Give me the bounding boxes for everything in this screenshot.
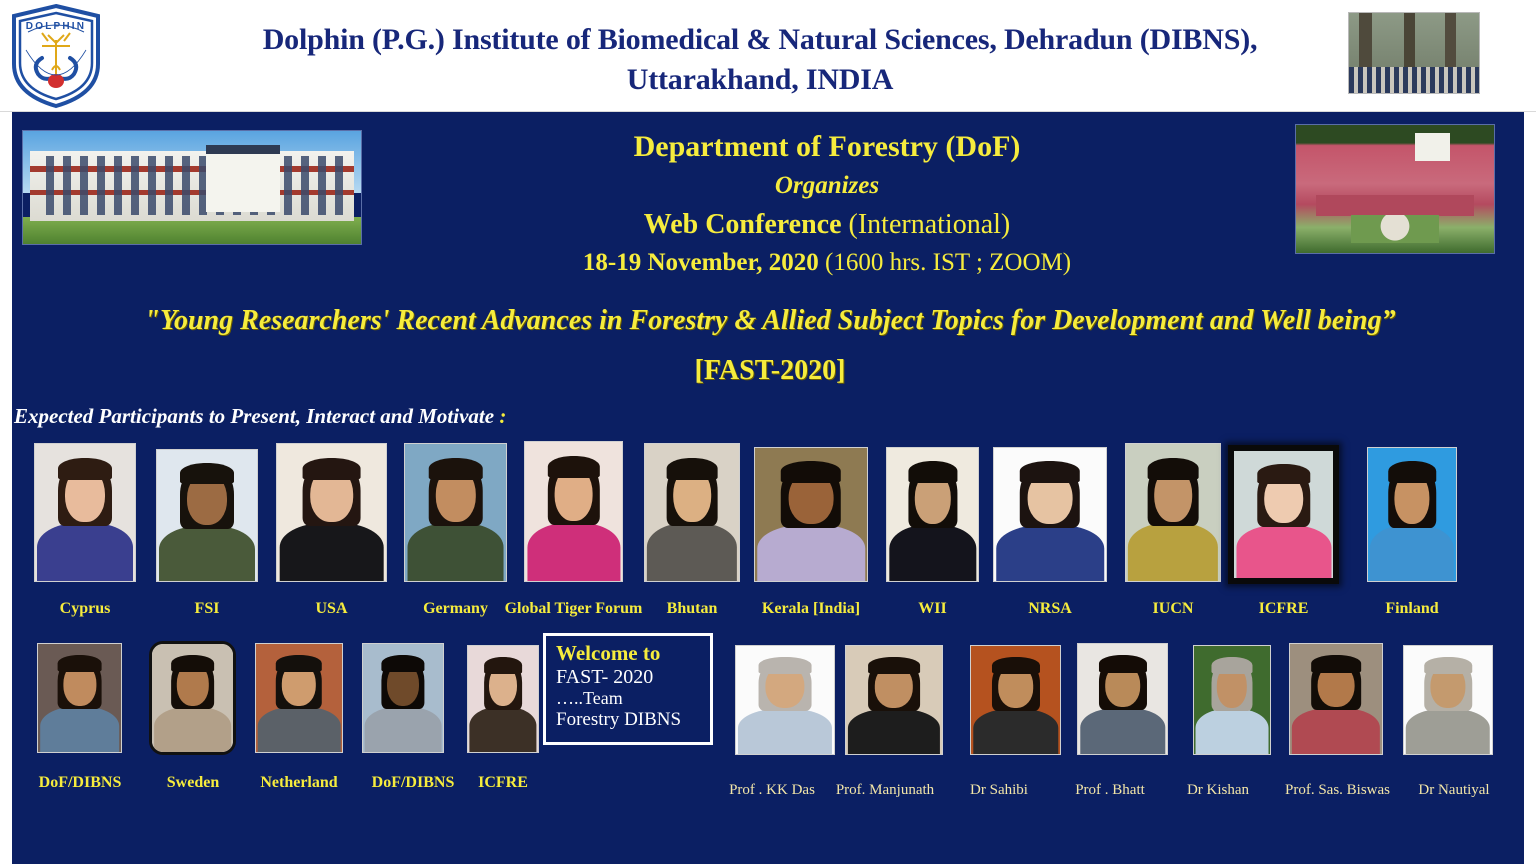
participant-caption: IUCN — [1125, 600, 1221, 618]
department-name: Department of Forestry (DoF) — [372, 126, 1282, 167]
conference-acronym: [FAST-2020] — [30, 355, 1510, 387]
participant-caption: Cyprus — [34, 600, 136, 618]
participant-photo — [1228, 445, 1339, 584]
participant-photo — [149, 641, 236, 755]
participant-photo — [362, 643, 444, 753]
expected-participants-colon: : — [499, 404, 506, 428]
group-photo-thumbnail — [1348, 12, 1480, 94]
poster-body: Department of Forestry (DoF) Organizes W… — [12, 112, 1524, 864]
participant-caption: USA — [276, 600, 387, 618]
participant-caption: Bhutan — [644, 600, 740, 618]
conference-type: Web Conference (International) — [372, 205, 1282, 246]
participant-photo — [404, 443, 507, 582]
participant-caption: DoF/DIBNS — [355, 774, 471, 792]
participant-photo — [644, 443, 740, 582]
participant-photo — [735, 645, 835, 755]
conference-date-rest: (1600 hrs. IST ; ZOOM) — [819, 249, 1071, 276]
participant-photo — [845, 645, 943, 755]
welcome-line-2: FAST- 2020 — [556, 666, 702, 689]
panellist-name: Prof . Bhatt — [1060, 782, 1160, 799]
dolphin-institute-logo: DOLPHIN — [8, 2, 104, 110]
participant-photo — [34, 443, 136, 582]
participant-caption: WII — [886, 600, 979, 618]
participant-photo — [37, 643, 122, 753]
expected-participants-text: Expected Participants to Present, Intera… — [14, 404, 494, 428]
conference-heading-block: Department of Forestry (DoF) Organizes W… — [372, 126, 1282, 280]
welcome-box: Welcome to FAST- 2020 …..Team Forestry D… — [543, 633, 713, 745]
participant-caption: Finland — [1357, 600, 1467, 618]
participant-caption: Netherland — [242, 774, 356, 792]
participant-photo — [276, 443, 387, 582]
participant-caption: FSI — [156, 600, 258, 618]
conference-type-bold: Web Conference — [644, 209, 842, 240]
panellist-name: Dr Nautiyal — [1402, 782, 1506, 799]
welcome-line-4: Forestry DIBNS — [556, 709, 702, 731]
participant-photo — [970, 645, 1061, 755]
expected-participants-label: Expected Participants to Present, Intera… — [14, 404, 506, 429]
conference-poster: DOLPHIN Dolphin (P.G.) Institute of Biom… — [0, 0, 1536, 864]
campus-aerial-photo — [1295, 124, 1495, 254]
participant-photo — [886, 447, 979, 582]
conference-date-bold: 18-19 November, 2020 — [583, 249, 819, 276]
participant-photo — [1193, 645, 1271, 755]
participant-caption: Global Tiger Forum — [492, 600, 655, 618]
conference-theme: "Young Researchers' Recent Advances in F… — [30, 305, 1510, 337]
institute-title-line1: Dolphin (P.G.) Institute of Biomedical &… — [170, 20, 1350, 60]
panellist-name: Prof. Manjunath — [825, 782, 945, 799]
participant-caption: ICFRE — [1228, 600, 1339, 618]
campus-building-photo — [22, 130, 362, 245]
participant-photo — [1125, 443, 1221, 582]
svg-text:DOLPHIN: DOLPHIN — [26, 21, 86, 32]
participant-photo — [156, 449, 258, 582]
panellist-name: Dr Kishan — [1172, 782, 1264, 799]
institute-title-line2: Uttarakhand, INDIA — [170, 60, 1350, 100]
participant-photo — [255, 643, 343, 753]
participant-photo — [467, 645, 539, 753]
shield-logo-icon: DOLPHIN — [8, 2, 104, 110]
participant-photo — [1077, 643, 1168, 755]
conference-type-rest: (International) — [842, 209, 1011, 240]
participant-caption: Kerala [India] — [754, 600, 868, 618]
participant-photo — [754, 447, 868, 582]
participant-photo — [524, 441, 623, 582]
conference-date: 18-19 November, 2020 (1600 hrs. IST ; ZO… — [372, 245, 1282, 280]
organizes-label: Organizes — [372, 167, 1282, 205]
panellist-name: Prof. Sas. Biswas — [1270, 782, 1405, 799]
poster-header: DOLPHIN Dolphin (P.G.) Institute of Biom… — [0, 0, 1536, 112]
participant-photo — [1289, 643, 1383, 755]
participant-caption: ICFRE — [467, 774, 539, 792]
participant-caption: NRSA — [993, 600, 1107, 618]
welcome-line-1: Welcome to — [556, 642, 702, 666]
institute-title: Dolphin (P.G.) Institute of Biomedical &… — [170, 20, 1350, 99]
participant-photo — [1403, 645, 1493, 755]
participant-caption: Sweden — [148, 774, 238, 792]
participant-photo — [993, 447, 1107, 582]
participant-caption: DoF/DIBNS — [22, 774, 138, 792]
welcome-line-3: …..Team — [556, 688, 702, 709]
panellist-name: Prof . KK Das — [717, 782, 827, 799]
participant-photo — [1367, 447, 1457, 582]
panellist-name: Dr Sahibi — [954, 782, 1044, 799]
